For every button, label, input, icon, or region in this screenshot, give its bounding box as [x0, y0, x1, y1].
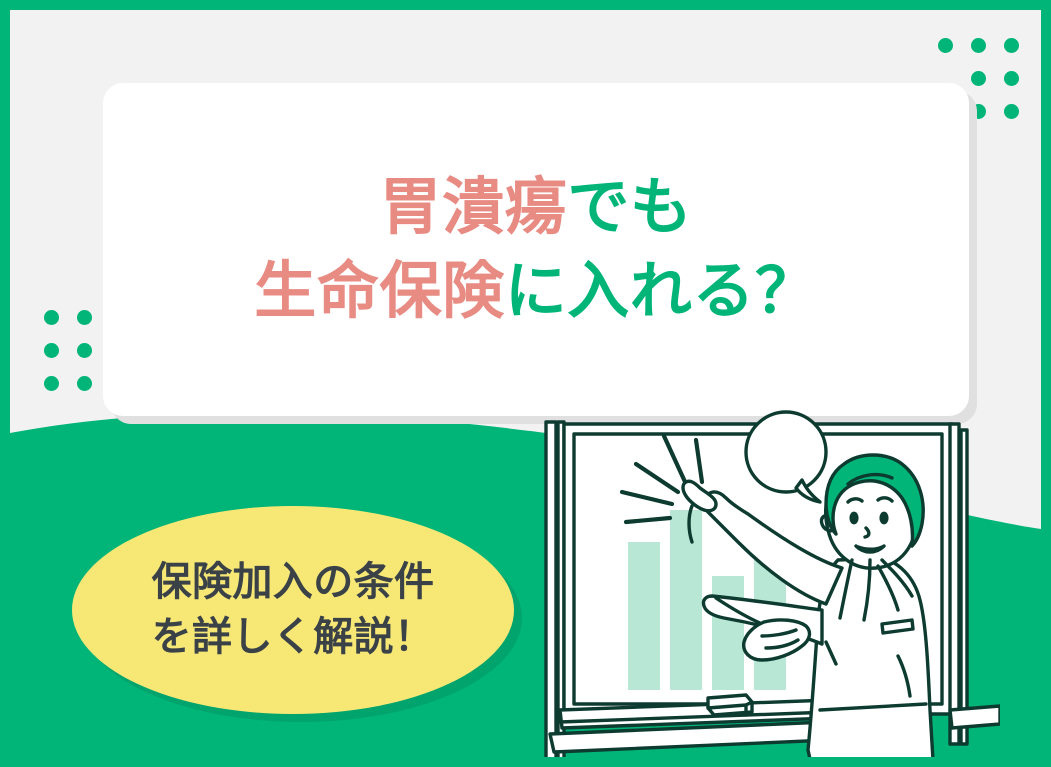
presenter-illustration: [530, 410, 1000, 757]
page-title-line-1-main: でも: [567, 173, 692, 242]
decorative-dot: [1004, 38, 1019, 53]
whiteboard-eraser: [708, 695, 752, 715]
decorative-dot: [44, 376, 59, 391]
page-title-line-2-accent: 生命保険: [254, 257, 504, 326]
headline-card: 胃潰瘍でも 生命保険に入れる？: [103, 83, 969, 416]
page-title-line-1-accent: 胃潰瘍: [379, 173, 567, 242]
decorative-dot: [77, 376, 92, 391]
banner-canvas: 胃潰瘍でも 生命保険に入れる？ 保険加入の条件 を詳しく解説！: [10, 10, 1041, 757]
decorative-dot: [77, 310, 92, 325]
decorative-dot: [1004, 71, 1019, 86]
decorative-dot: [77, 343, 92, 358]
decorative-dot: [938, 38, 953, 53]
page-title-line-2-main: に入れる？: [505, 257, 818, 326]
decorative-dot: [971, 38, 986, 53]
decorative-dot: [1004, 104, 1019, 119]
decorative-dot: [44, 310, 59, 325]
decorative-dot: [44, 343, 59, 358]
page-title-line-1: 胃潰瘍でも: [379, 166, 692, 249]
dot-grid-left: [44, 310, 92, 391]
page-title-line-2: 生命保険に入れる？: [254, 250, 818, 333]
subtitle-badge: 保険加入の条件 を詳しく解説！: [72, 506, 514, 714]
banner-root: 胃潰瘍でも 生命保険に入れる？ 保険加入の条件 を詳しく解説！: [0, 0, 1051, 767]
badge-line-1: 保険加入の条件: [152, 555, 435, 610]
decorative-dot: [971, 71, 986, 86]
badge-line-2: を詳しく解説！: [152, 610, 435, 665]
